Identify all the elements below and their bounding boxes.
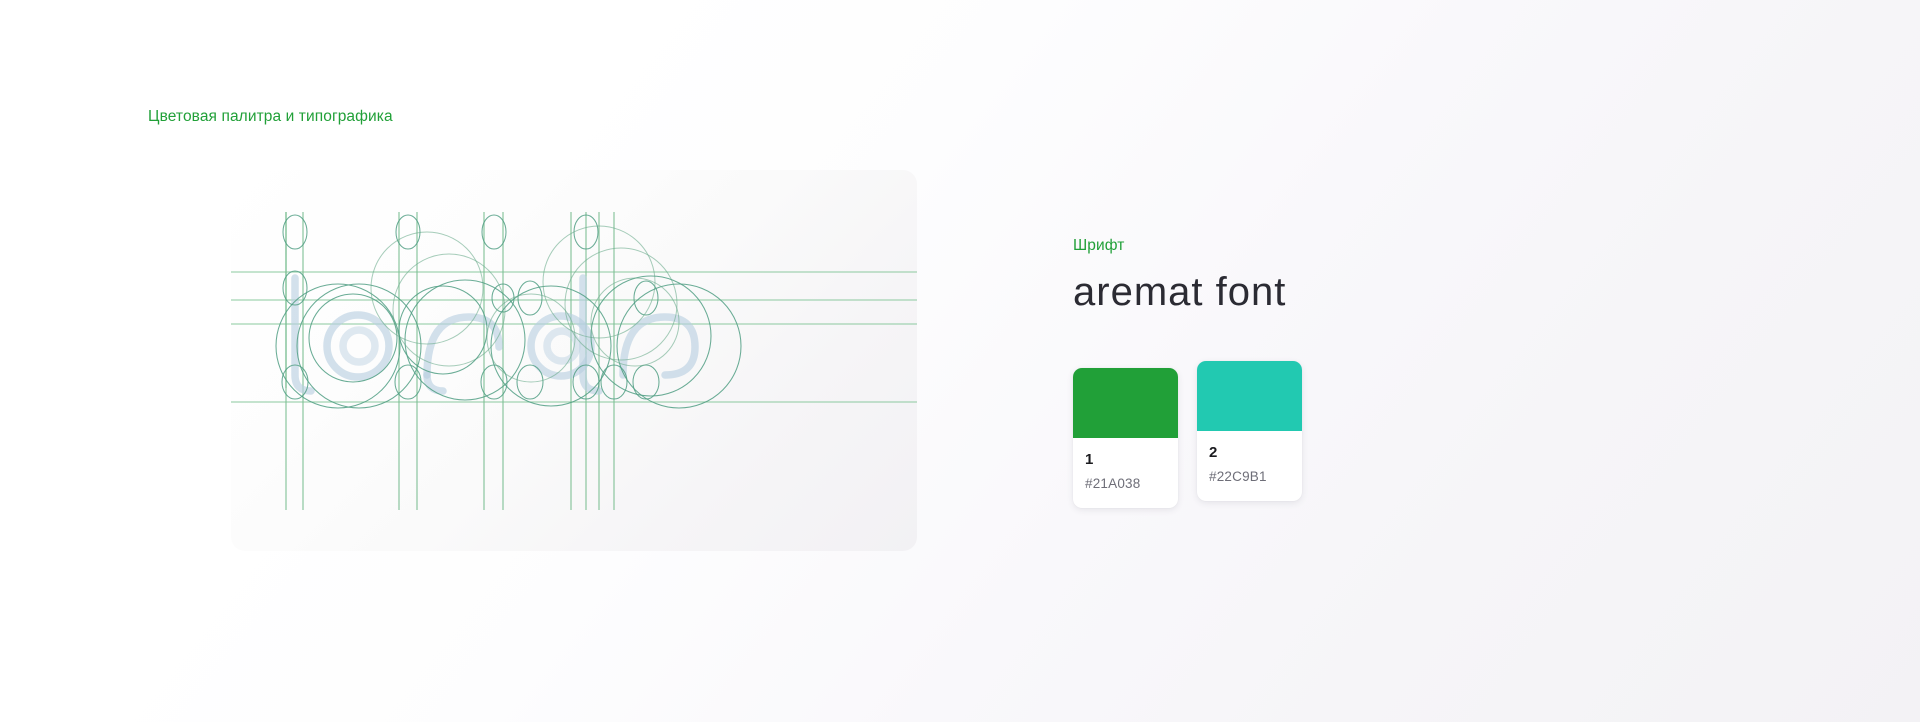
- color-swatch-body: 2 #22C9B1: [1197, 431, 1302, 501]
- color-index: 1: [1085, 451, 1166, 469]
- font-section-label: Шрифт: [1073, 236, 1473, 256]
- color-swatch-card[interactable]: 1 #21A038: [1073, 368, 1178, 508]
- color-hex-value: #22C9B1: [1209, 469, 1290, 485]
- color-swatch-card[interactable]: 2 #22C9B1: [1197, 361, 1302, 501]
- logo-construction-grid: [231, 170, 917, 551]
- color-hex-value: #21A038: [1085, 476, 1166, 492]
- logo-construction-panel: [231, 170, 917, 551]
- color-palette: 1 #21A038 2 #22C9B1: [1073, 368, 1302, 508]
- typography-section: Шрифт aremat font: [1073, 236, 1473, 314]
- color-index: 2: [1209, 444, 1290, 462]
- page-background: Цветовая палитра и типографика: [0, 0, 1920, 722]
- page-title: Цветовая палитра и типографика: [148, 106, 393, 128]
- color-chip: [1197, 361, 1302, 431]
- construction-circles: [276, 215, 741, 408]
- color-swatch-body: 1 #21A038: [1073, 438, 1178, 508]
- font-specimen: aremat font: [1073, 270, 1473, 314]
- color-chip: [1073, 368, 1178, 438]
